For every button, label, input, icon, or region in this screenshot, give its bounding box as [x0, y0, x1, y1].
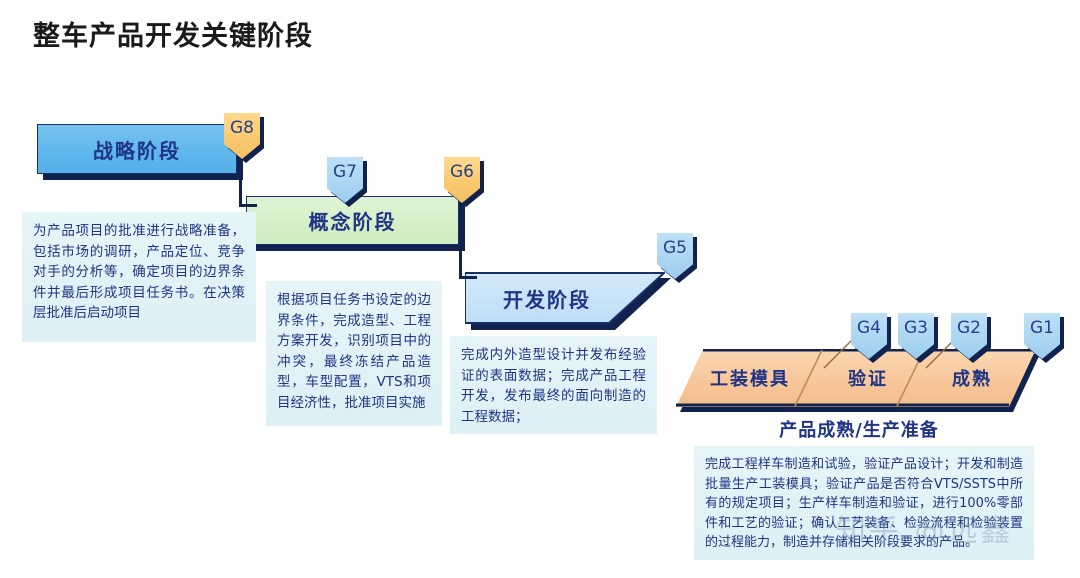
connector-g8-horizontal — [239, 204, 257, 207]
gate-g8-label: G8 — [230, 118, 254, 138]
diagram-canvas: 整车产品开发关键阶段 战略阶段 G8 概念阶段 G7 G6 开发阶段 — [0, 0, 1080, 578]
stage-strategy[interactable]: 战略阶段 — [37, 124, 237, 174]
gate-g3-label: G3 — [904, 318, 928, 338]
description-strategy: 为产品项目的批准进行战略准备，包括市场的调研，产品定位、竞争对手的分析等，确定项… — [22, 212, 256, 342]
gate-g6-label: G6 — [450, 162, 474, 182]
gate-g5[interactable]: G5 — [657, 233, 693, 279]
gate-g2[interactable]: G2 — [951, 313, 987, 359]
stage-strategy-label: 战略阶段 — [93, 135, 181, 164]
gate-g6[interactable]: G6 — [444, 157, 480, 203]
gate-g1[interactable]: G1 — [1024, 313, 1060, 359]
gate-g8[interactable]: G8 — [224, 113, 260, 159]
connector-g6 — [459, 236, 462, 278]
gate-g1-label: G1 — [1030, 318, 1054, 338]
stage-concept-label: 概念阶段 — [309, 206, 397, 235]
gate-g5-label: G5 — [663, 238, 687, 258]
stage-develop-label: 开发阶段 — [503, 284, 591, 313]
description-maturity: 完成工程样车制造和试验，验证产品设计；开发和制造批量生产工装模具；验证产品是否符… — [694, 446, 1034, 560]
description-develop: 完成内外造型设计并发布经验证的表面数据；完成产品工程开发，发布最终的面向制造的工… — [450, 336, 657, 434]
gate-g2-label: G2 — [957, 318, 981, 338]
description-concept: 根据项目任务书设定的边界条件，完成造型、工程方案开发，识别项目中的冲突，最终冻结… — [266, 281, 442, 426]
gate-g4-label: G4 — [857, 318, 881, 338]
gate-g7-label: G7 — [333, 162, 357, 182]
maturity-caption: 产品成熟/生产准备 — [676, 416, 1042, 442]
connector-g8 — [239, 164, 242, 206]
connector-g6-horizontal — [459, 276, 477, 279]
gate-g3[interactable]: G3 — [898, 313, 934, 359]
gate-g4[interactable]: G4 — [851, 313, 887, 359]
page-title: 整车产品开发关键阶段 — [33, 14, 313, 53]
stage-develop[interactable]: 开发阶段 — [465, 272, 665, 324]
gate-g7[interactable]: G7 — [327, 157, 363, 203]
